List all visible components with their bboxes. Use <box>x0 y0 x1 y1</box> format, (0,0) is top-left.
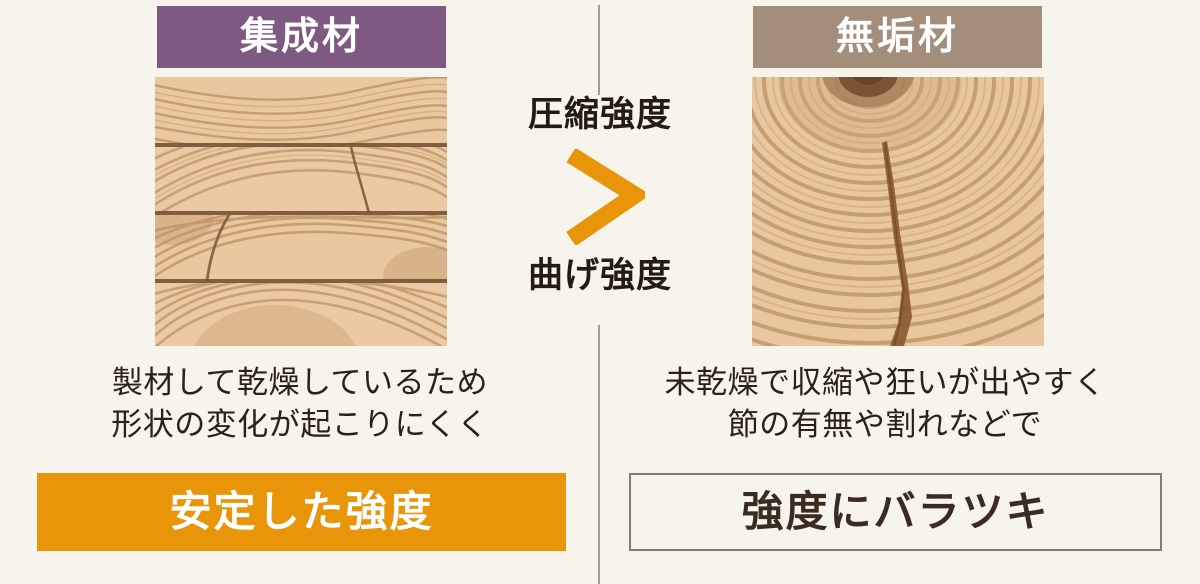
solid-wood-photo <box>752 77 1044 346</box>
compressive-strength-label: 圧縮強度 <box>490 96 710 135</box>
column-header-solid-wood: 無垢材 <box>753 6 1042 68</box>
description-line-2: 形状の変化が起こりにくく <box>40 404 560 446</box>
conclusion-glulam: 安定した強度 <box>37 473 566 551</box>
strength-comparison: 圧縮強度 曲げ強度 <box>490 96 710 295</box>
column-divider-top <box>598 5 600 95</box>
description-glulam: 製材して乾燥しているため 形状の変化が起こりにくく <box>40 362 560 446</box>
greater-than-icon <box>555 149 645 245</box>
glued-laminated-timber-photo <box>155 77 447 346</box>
column-header-glulam: 集成材 <box>157 6 446 68</box>
comparison-infographic: 集成材 <box>0 0 1200 584</box>
description-line-2: 節の有無や割れなどで <box>625 404 1145 446</box>
description-solid-wood: 未乾燥で収縮や狂いが出やすく 節の有無や割れなどで <box>625 362 1145 446</box>
conclusion-solid-wood: 強度にバラツキ <box>629 473 1162 551</box>
bending-strength-label: 曲げ強度 <box>490 257 710 296</box>
description-line-1: 製材して乾燥しているため <box>40 362 560 404</box>
column-divider-bottom <box>598 325 600 584</box>
description-line-1: 未乾燥で収縮や狂いが出やすく <box>625 362 1145 404</box>
